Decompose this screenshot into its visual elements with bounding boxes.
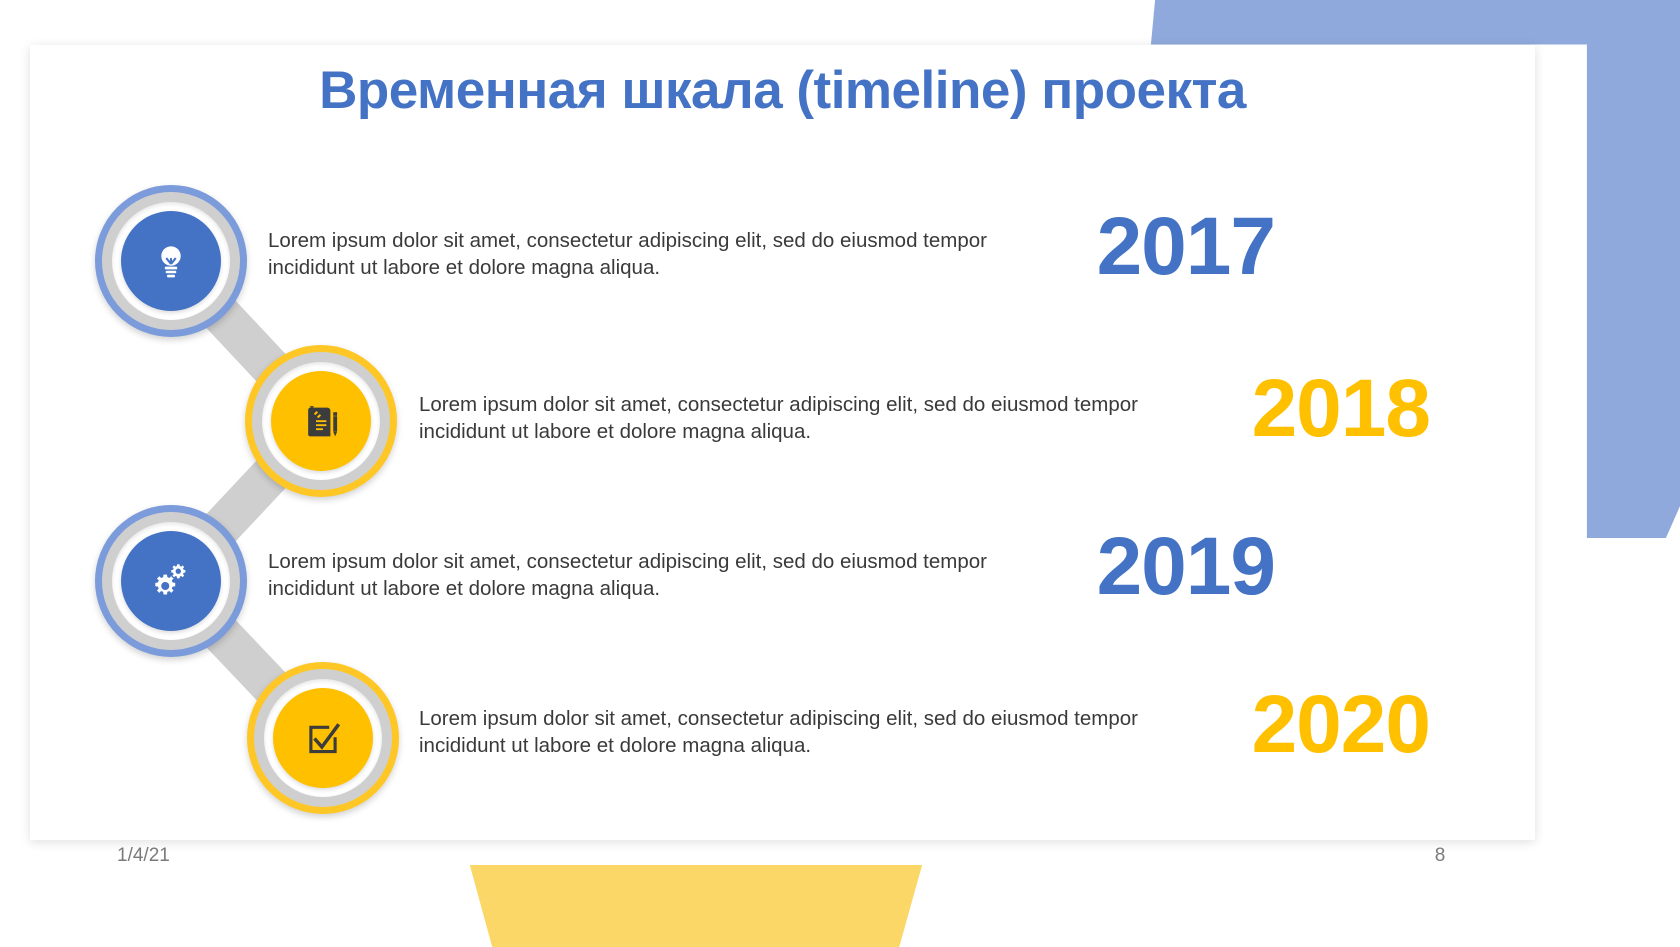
timeline-year-2018: 2018: [1035, 368, 1430, 450]
page-title: Временная шкала (timeline) проекта: [30, 60, 1535, 121]
timeline-badge-2019[interactable]: [95, 505, 247, 657]
timeline-year-2020: 2020: [1035, 684, 1430, 766]
timeline-badge-2018[interactable]: [245, 345, 397, 497]
document-pen-icon: [298, 398, 344, 444]
checkbox-check-icon: [301, 716, 345, 760]
gears-icon: [148, 558, 194, 604]
badge-disc: [271, 371, 371, 471]
timeline-connectors: [0, 0, 1680, 945]
footer-page-number: 8: [1400, 845, 1480, 867]
footer-date: 1/4/21: [117, 845, 170, 867]
timeline-year-2017: 2017: [880, 206, 1275, 288]
lightbulb-icon: [149, 239, 193, 283]
badge-disc: [273, 688, 373, 788]
timeline-year-2019: 2019: [880, 526, 1275, 608]
timeline-badge-2017[interactable]: [95, 185, 247, 337]
badge-disc: [121, 211, 221, 311]
badge-disc: [121, 531, 221, 631]
timeline-badge-2020[interactable]: [247, 662, 399, 814]
